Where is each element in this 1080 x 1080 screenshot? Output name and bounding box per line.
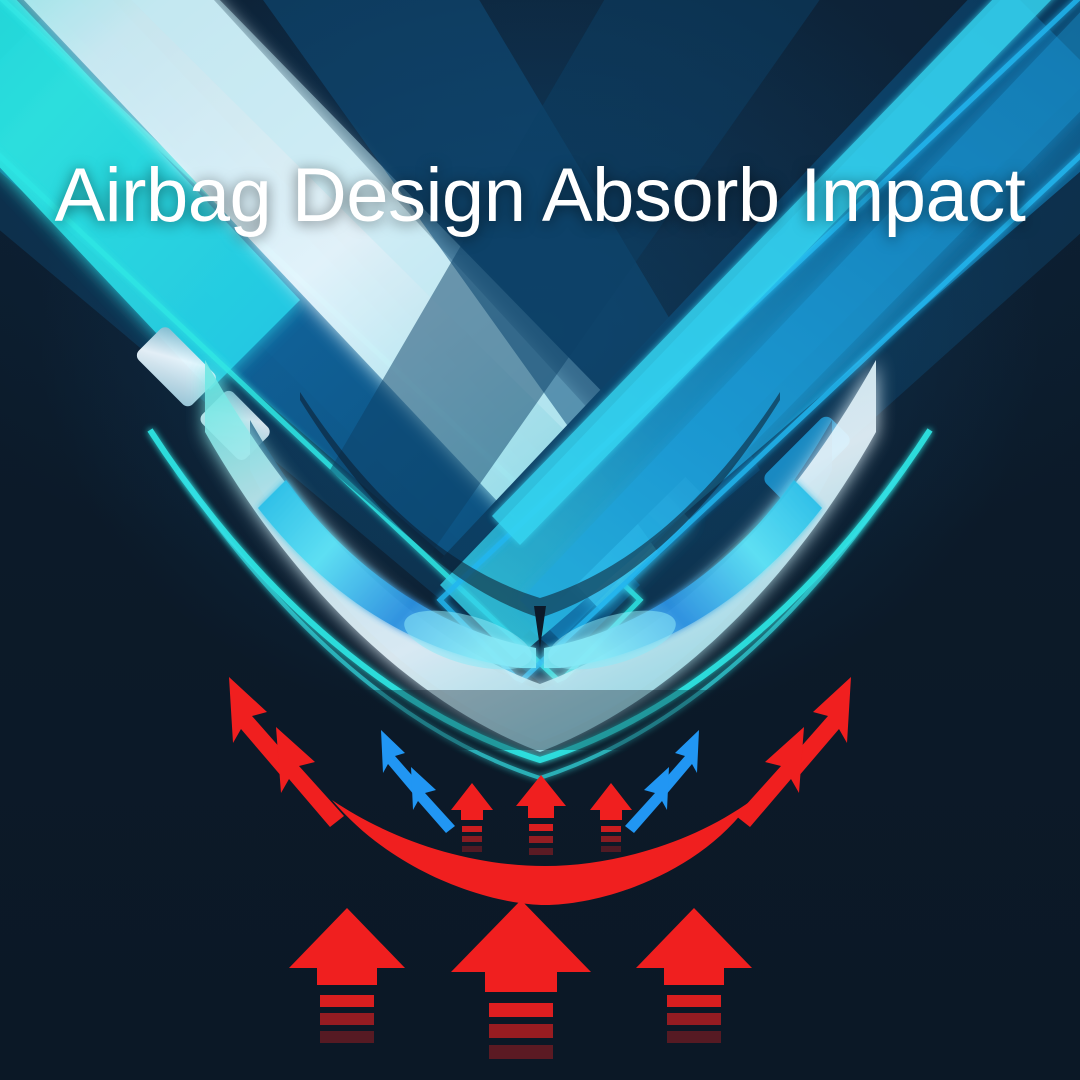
outward-red-arrows-right	[736, 677, 851, 827]
small-upward-red-arrows	[451, 775, 632, 855]
inward-blue-arrows-right	[625, 730, 699, 833]
product-marketing-image: Airbag Design Absorb Impact	[0, 0, 1080, 1080]
large-arrow-left	[289, 908, 405, 1043]
small-arrow-center	[516, 775, 566, 855]
large-arrow-center	[451, 900, 591, 1059]
impact-arrows-diagram	[0, 0, 1080, 1080]
inward-blue-arrows-left	[381, 730, 455, 833]
small-arrow-left	[451, 783, 493, 852]
large-upward-red-arrows	[289, 900, 752, 1059]
large-arrow-right	[636, 908, 752, 1043]
small-arrow-right	[590, 783, 632, 852]
outward-red-arrows-left	[229, 677, 344, 827]
